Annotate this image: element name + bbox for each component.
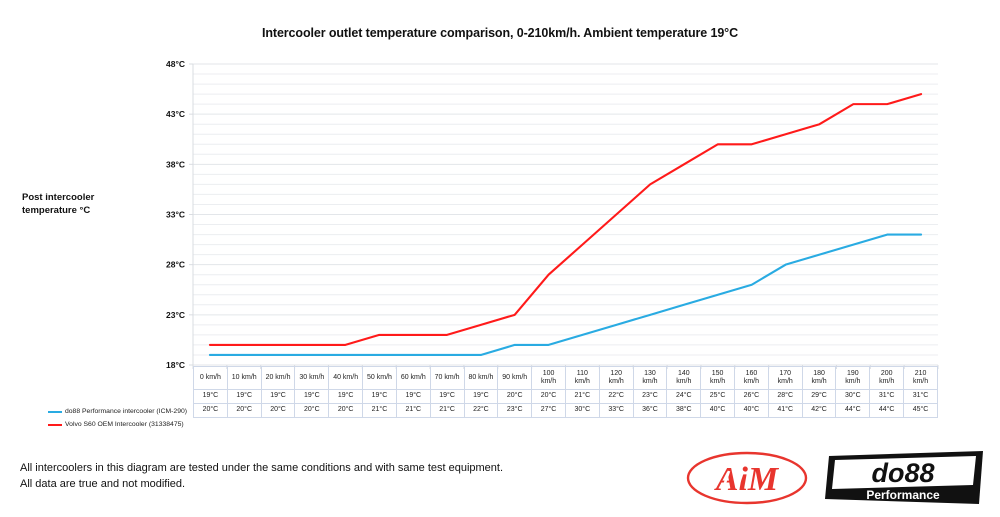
table-cell: 44°C: [836, 404, 870, 418]
table-cell: 33°C: [599, 404, 633, 418]
y-axis-tick-label: 23°C: [166, 310, 185, 320]
table-cell: 36°C: [633, 404, 667, 418]
table-cell: 40°C: [701, 404, 735, 418]
aim-logo: AiM: [685, 449, 810, 507]
table-cell: 29°C: [802, 390, 836, 404]
table-header-cell: 60 km/h: [396, 367, 430, 390]
table-cell: 19°C: [227, 390, 261, 404]
table-cell: 19°C: [396, 390, 430, 404]
table-header-cell: 210km/h: [904, 367, 938, 390]
table-header-cell: 150km/h: [701, 367, 735, 390]
table-cell: 19°C: [363, 390, 397, 404]
table-cell: 42°C: [802, 404, 836, 418]
table-cell: 22°C: [599, 390, 633, 404]
table-cell: 19°C: [261, 390, 295, 404]
table-cell: 20°C: [498, 390, 532, 404]
legend-item-oem: Volvo S60 OEM Intercooler (31338475): [48, 418, 193, 431]
table-cell: 31°C: [904, 390, 938, 404]
table-cell: 21°C: [396, 404, 430, 418]
footer-line-1: All intercoolers in this diagram are tes…: [20, 460, 640, 476]
table-cell: 28°C: [768, 390, 802, 404]
table-cell: 23°C: [498, 404, 532, 418]
table-cell: 44°C: [870, 404, 904, 418]
table-cell: 20°C: [295, 404, 329, 418]
table-cell: 38°C: [667, 404, 701, 418]
y-axis-tick-label: 38°C: [166, 159, 185, 169]
table-header-row: 0 km/h10 km/h20 km/h30 km/h40 km/h50 km/…: [194, 367, 938, 390]
table-cell: 23°C: [633, 390, 667, 404]
table-header-cell: 30 km/h: [295, 367, 329, 390]
footer-line-2: All data are true and not modified.: [20, 476, 640, 492]
table-header-cell: 90 km/h: [498, 367, 532, 390]
table-header-cell: 120km/h: [599, 367, 633, 390]
do88-logo: do88 Performance: [825, 449, 985, 507]
logo-group: AiM do88 Performance: [685, 447, 985, 509]
table-cell: 41°C: [768, 404, 802, 418]
table-header-cell: 160km/h: [735, 367, 769, 390]
table-cell: 19°C: [464, 390, 498, 404]
chart-legend: do88 Performance intercooler (ICM-290) V…: [48, 383, 193, 431]
table-cell: 27°C: [532, 404, 566, 418]
data-table-body: 0 km/h10 km/h20 km/h30 km/h40 km/h50 km/…: [194, 367, 938, 418]
table-cell: 19°C: [329, 390, 363, 404]
table-cell: 20°C: [261, 404, 295, 418]
table-cell: 21°C: [363, 404, 397, 418]
data-table: 0 km/h10 km/h20 km/h30 km/h40 km/h50 km/…: [193, 366, 938, 418]
do88-logo-subtext: Performance: [866, 488, 940, 502]
table-cell: 31°C: [870, 390, 904, 404]
table-cell: 45°C: [904, 404, 938, 418]
table-header-cell: 200km/h: [870, 367, 904, 390]
table-cell: 19°C: [194, 390, 228, 404]
footer-note: All intercoolers in this diagram are tes…: [20, 460, 640, 492]
aim-logo-text: AiM: [714, 461, 780, 498]
legend-label-oem: Volvo S60 OEM Intercooler (31338475): [65, 421, 184, 428]
table-cell: 20°C: [194, 404, 228, 418]
y-axis-tick-label: 43°C: [166, 109, 185, 119]
do88-logo-text: do88: [871, 458, 934, 488]
table-cell: 26°C: [735, 390, 769, 404]
table-header-cell: 110km/h: [565, 367, 599, 390]
table-cell: 20°C: [227, 404, 261, 418]
table-header-cell: 190km/h: [836, 367, 870, 390]
table-cell: 20°C: [329, 404, 363, 418]
table-cell: 20°C: [532, 390, 566, 404]
y-axis-tick-label: 48°C: [166, 59, 185, 69]
table-header-cell: 50 km/h: [363, 367, 397, 390]
table-header-cell: 180km/h: [802, 367, 836, 390]
table-header-cell: 10 km/h: [227, 367, 261, 390]
table-cell: 21°C: [430, 404, 464, 418]
table-row: 20°C20°C20°C20°C20°C21°C21°C21°C22°C23°C…: [194, 404, 938, 418]
legend-label-do88: do88 Performance intercooler (ICM-290): [65, 408, 187, 415]
table-header-cell: 0 km/h: [194, 367, 228, 390]
table-header-cell: 170km/h: [768, 367, 802, 390]
table-cell: 30°C: [836, 390, 870, 404]
table-header-cell: 40 km/h: [329, 367, 363, 390]
table-header-cell: 140km/h: [667, 367, 701, 390]
table-header-cell: 20 km/h: [261, 367, 295, 390]
legend-item-do88: do88 Performance intercooler (ICM-290): [48, 405, 193, 418]
table-cell: 21°C: [565, 390, 599, 404]
table-header-cell: 130km/h: [633, 367, 667, 390]
table-cell: 24°C: [667, 390, 701, 404]
y-axis-tick-label: 33°C: [166, 210, 185, 220]
series-line-oem: [210, 94, 921, 345]
legend-spacer: [48, 383, 193, 405]
table-cell: 40°C: [735, 404, 769, 418]
legend-swatch-oem: [48, 424, 62, 426]
table-header-cell: 80 km/h: [464, 367, 498, 390]
table-header-cell: 100km/h: [532, 367, 566, 390]
table-cell: 25°C: [701, 390, 735, 404]
table-cell: 19°C: [295, 390, 329, 404]
table-cell: 22°C: [464, 404, 498, 418]
y-axis-tick-label: 28°C: [166, 260, 185, 270]
table-cell: 19°C: [430, 390, 464, 404]
legend-swatch-do88: [48, 411, 62, 413]
y-axis-tick-label: 18°C: [166, 360, 185, 370]
table-header-cell: 70 km/h: [430, 367, 464, 390]
table-cell: 30°C: [565, 404, 599, 418]
table-row: 19°C19°C19°C19°C19°C19°C19°C19°C19°C20°C…: [194, 390, 938, 404]
